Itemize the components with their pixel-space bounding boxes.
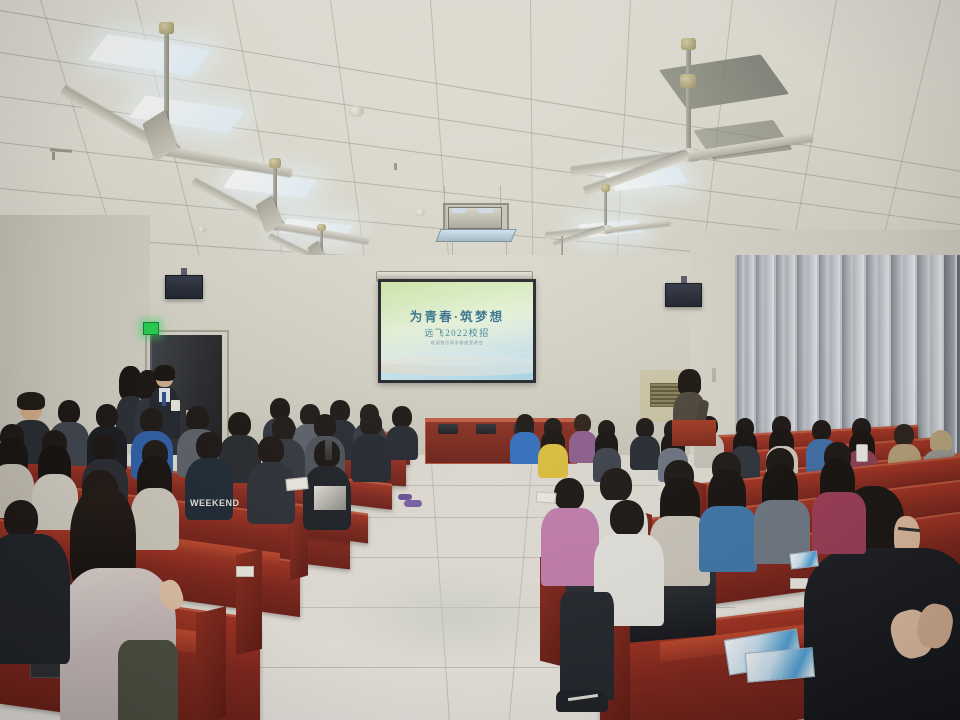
paper-sheet	[285, 477, 308, 491]
necktie	[162, 392, 166, 406]
water-bottle[interactable]	[325, 440, 332, 460]
trouser	[560, 592, 614, 700]
podium	[672, 420, 716, 446]
sprinkler-icon	[52, 152, 55, 160]
exit-sign-icon	[143, 322, 159, 335]
desk-side	[236, 549, 262, 655]
smoke-detector-icon	[197, 227, 206, 233]
front-chair	[476, 424, 496, 434]
slide-subtitle: 远飞2022校招	[381, 326, 533, 339]
wall-hook	[712, 368, 716, 382]
slide-title: 为青春·筑梦想	[381, 306, 533, 325]
jacket-text: WEEKEND	[190, 498, 230, 508]
wall-speaker	[165, 275, 203, 299]
lecture-hall-photo: 为青春·筑梦想 远飞2022校招 欢迎各位同学参加宣讲会	[0, 0, 960, 720]
projection-screen[interactable]: 为青春·筑梦想 远飞2022校招 欢迎各位同学参加宣讲会	[378, 279, 536, 383]
paper-sheet	[536, 491, 557, 504]
wall-speaker	[665, 283, 702, 307]
shoe	[398, 494, 412, 500]
brochure[interactable]	[789, 550, 819, 569]
slide-footer: 欢迎各位同学参加宣讲会	[381, 340, 533, 346]
brochure[interactable]	[745, 647, 815, 683]
smartphone[interactable]	[856, 444, 868, 462]
smoke-detector-icon	[415, 209, 425, 216]
seat-number-tag	[236, 566, 254, 577]
desk-side	[196, 606, 226, 720]
shoe	[404, 500, 422, 507]
sneaker	[556, 690, 608, 712]
held-cup	[171, 400, 180, 411]
trouser	[118, 640, 178, 720]
window-curtain[interactable]	[735, 255, 960, 455]
sprinkler-icon	[394, 163, 397, 170]
smoke-detector-icon	[348, 106, 364, 117]
graphic-print	[314, 486, 346, 510]
front-chair	[438, 424, 458, 434]
